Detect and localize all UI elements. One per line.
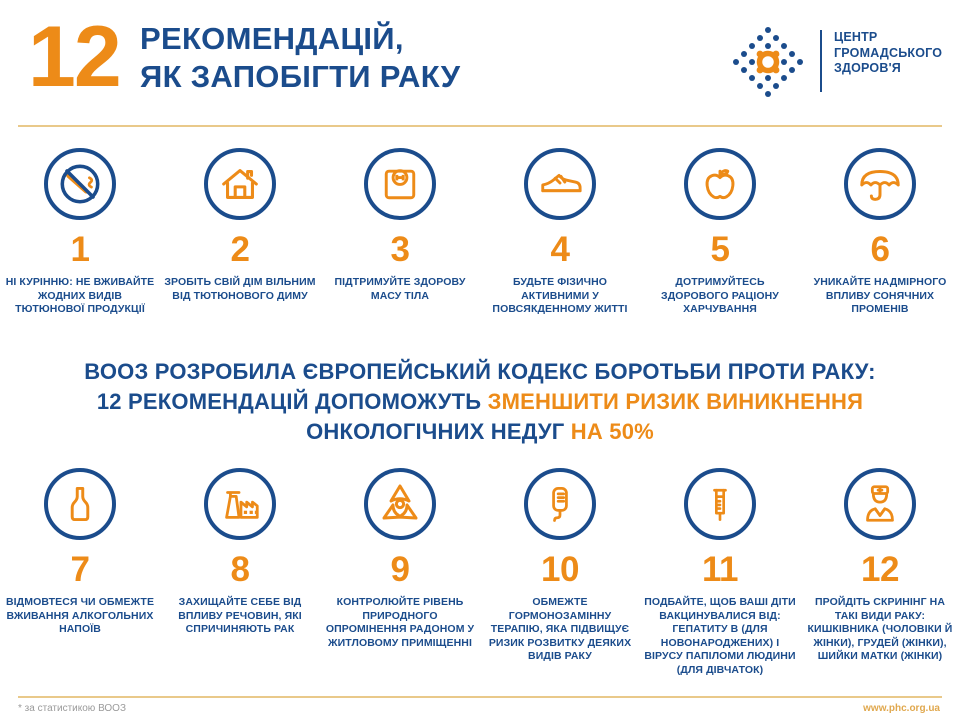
logo-line-1: ЦЕНТР: [834, 30, 942, 46]
logo-line-2: ГРОМАДСЬКОГО: [834, 46, 942, 62]
recommendation-item: 4 БУДЬТЕ ФІЗИЧНО АКТИВНИМИ У ПОВСЯКДЕННО…: [480, 148, 640, 317]
header: 12 РЕКОМЕНДАЦІЙ, ЯК ЗАПОБІГТИ РАКУ: [0, 0, 960, 126]
recommendation-item: 5 ДОТРИМУЙТЕСЬ ЗДОРОВОГО РАЦІОНУ ХАРЧУВА…: [640, 148, 800, 317]
logo-line-3: ЗДОРОВ'Я: [834, 61, 942, 77]
item-caption: ПІДТРИМУЙТЕ ЗДОРОВУ МАСУ ТІЛА: [324, 276, 476, 303]
item-number: 2: [231, 232, 250, 268]
recommendations-row-1: 1 НІ КУРІННЮ: НЕ ВЖИВАЙТЕ ЖОДНИХ ВИДІВ Т…: [0, 148, 960, 317]
footer-note: * за статистикою ВООЗ: [18, 702, 126, 716]
infographic-page: 12 РЕКОМЕНДАЦІЙ, ЯК ЗАПОБІГТИ РАКУ: [0, 0, 960, 720]
footer-divider-rule: [18, 696, 942, 698]
item-caption: ВІДМОВТЕСЯ ЧИ ОБМЕЖТЕ ВЖИВАННЯ АЛКОГОЛЬН…: [4, 596, 156, 637]
banner-line-2-plain: 12 РЕКОМЕНДАЦІЙ ДОПОМОЖУТЬ: [97, 389, 488, 414]
recommendation-item: 1 НІ КУРІННЮ: НЕ ВЖИВАЙТЕ ЖОДНИХ ВИДІВ Т…: [0, 148, 160, 317]
recommendations-row-2: 7 ВІДМОВТЕСЯ ЧИ ОБМЕЖТЕ ВЖИВАННЯ АЛКОГОЛ…: [0, 468, 960, 677]
item-number: 9: [391, 552, 410, 588]
item-number: 11: [702, 552, 738, 588]
banner-line-2-highlight: ЗМЕНШИТИ РИЗИК ВИНИКНЕННЯ: [488, 389, 864, 414]
banner-line-1: ВООЗ РОЗРОБИЛА ЄВРОПЕЙСЬКИЙ КОДЕКС БОРОТ…: [0, 357, 960, 387]
item-caption: КОНТРОЛЮЙТЕ РІВЕНЬ ПРИРОДНОГО ОПРОМІНЕНН…: [324, 596, 476, 650]
item-number: 1: [71, 232, 90, 268]
item-number: 3: [391, 232, 410, 268]
radiation-icon: [364, 468, 436, 540]
item-caption: БУДЬТЕ ФІЗИЧНО АКТИВНИМИ У ПОВСЯКДЕННОМУ…: [484, 276, 636, 317]
sneaker-icon: [524, 148, 596, 220]
banner-line-2: 12 РЕКОМЕНДАЦІЙ ДОПОМОЖУТЬ ЗМЕНШИТИ РИЗИ…: [0, 387, 960, 417]
page-title-line2: ЯК ЗАПОБІГТИ РАКУ: [140, 58, 720, 96]
item-number: 10: [541, 552, 579, 588]
banner-line-3-highlight: НА 50%: [571, 419, 654, 444]
item-caption: ПРОЙДІТЬ СКРИНІНГ НА ТАКІ ВИДИ РАКУ: КИШ…: [804, 596, 956, 664]
recommendation-item: 7 ВІДМОВТЕСЯ ЧИ ОБМЕЖТЕ ВЖИВАННЯ АЛКОГОЛ…: [0, 468, 160, 677]
no-smoking-icon: [44, 148, 116, 220]
page-title-line1: РЕКОМЕНДАЦІЙ,: [140, 21, 404, 56]
recommendation-item: 3 ПІДТРИМУЙТЕ ЗДОРОВУ МАСУ ТІЛА: [320, 148, 480, 317]
recommendation-item: 11 ПОДБАЙТЕ, ЩОБ ВАШІ ДІТИ ВАКЦИНУВАЛИСЯ…: [640, 468, 800, 677]
recommendation-item: 10 ОБМЕЖТЕ ГОРМОНОЗАМІННУ ТЕРАПІЮ, ЯКА П…: [480, 468, 640, 677]
factory-icon: [204, 468, 276, 540]
iv-drip-icon: [524, 468, 596, 540]
footer-url[interactable]: www.phc.org.ua: [863, 702, 940, 716]
apple-icon: [684, 148, 756, 220]
recommendation-item: 12 ПРОЙДІТЬ СКРИНІНГ НА ТАКІ ВИДИ РАКУ: …: [800, 468, 960, 677]
item-number: 12: [861, 552, 899, 588]
item-number: 8: [231, 552, 250, 588]
banner-line-3: ОНКОЛОГІЧНИХ НЕДУГ НА 50%: [0, 417, 960, 447]
item-caption: ОБМЕЖТЕ ГОРМОНОЗАМІННУ ТЕРАПІЮ, ЯКА ПІДВ…: [484, 596, 636, 664]
logo-divider: [820, 30, 822, 92]
recommendation-item: 9 КОНТРОЛЮЙТЕ РІВЕНЬ ПРИРОДНОГО ОПРОМІНЕ…: [320, 468, 480, 677]
item-caption: ПОДБАЙТЕ, ЩОБ ВАШІ ДІТИ ВАКЦИНУВАЛИСЯ ВІ…: [644, 596, 796, 677]
item-caption: ЗРОБІТЬ СВІЙ ДІМ ВІЛЬНИМ ВІД ТЮТЮНОВОГО …: [164, 276, 316, 303]
headline-number: 12: [28, 14, 120, 100]
banner-line-3-plain: ОНКОЛОГІЧНИХ НЕДУГ: [306, 419, 571, 444]
key-message-banner: ВООЗ РОЗРОБИЛА ЄВРОПЕЙСЬКИЙ КОДЕКС БОРОТ…: [0, 357, 960, 447]
cph-dots-diamond-logo-icon: [728, 22, 808, 102]
doctor-icon: [844, 468, 916, 540]
item-caption: УНИКАЙТЕ НАДМІРНОГО ВПЛИВУ СОНЯЧНИХ ПРОМ…: [804, 276, 956, 317]
item-number: 4: [551, 232, 570, 268]
bottle-icon: [44, 468, 116, 540]
weight-scale-icon: [364, 148, 436, 220]
syringe-icon: [684, 468, 756, 540]
house-icon: [204, 148, 276, 220]
recommendation-item: 8 ЗАХИЩАЙТЕ СЕБЕ ВІД ВПЛИВУ РЕЧОВИН, ЯКІ…: [160, 468, 320, 677]
page-title: РЕКОМЕНДАЦІЙ, ЯК ЗАПОБІГТИ РАКУ: [140, 20, 720, 96]
item-number: 5: [711, 232, 730, 268]
recommendation-item: 2 ЗРОБІТЬ СВІЙ ДІМ ВІЛЬНИМ ВІД ТЮТЮНОВОГ…: [160, 148, 320, 317]
item-caption: ЗАХИЩАЙТЕ СЕБЕ ВІД ВПЛИВУ РЕЧОВИН, ЯКІ С…: [164, 596, 316, 637]
item-number: 7: [71, 552, 90, 588]
header-divider-rule: [18, 125, 942, 127]
item-number: 6: [871, 232, 890, 268]
logo-wordmark: ЦЕНТР ГРОМАДСЬКОГО ЗДОРОВ'Я: [834, 30, 942, 77]
organization-logo: ЦЕНТР ГРОМАДСЬКОГО ЗДОРОВ'Я: [728, 16, 938, 108]
item-caption: ДОТРИМУЙТЕСЬ ЗДОРОВОГО РАЦІОНУ ХАРЧУВАНН…: [644, 276, 796, 317]
item-caption: НІ КУРІННЮ: НЕ ВЖИВАЙТЕ ЖОДНИХ ВИДІВ ТЮТ…: [4, 276, 156, 317]
umbrella-icon: [844, 148, 916, 220]
recommendation-item: 6 УНИКАЙТЕ НАДМІРНОГО ВПЛИВУ СОНЯЧНИХ ПР…: [800, 148, 960, 317]
